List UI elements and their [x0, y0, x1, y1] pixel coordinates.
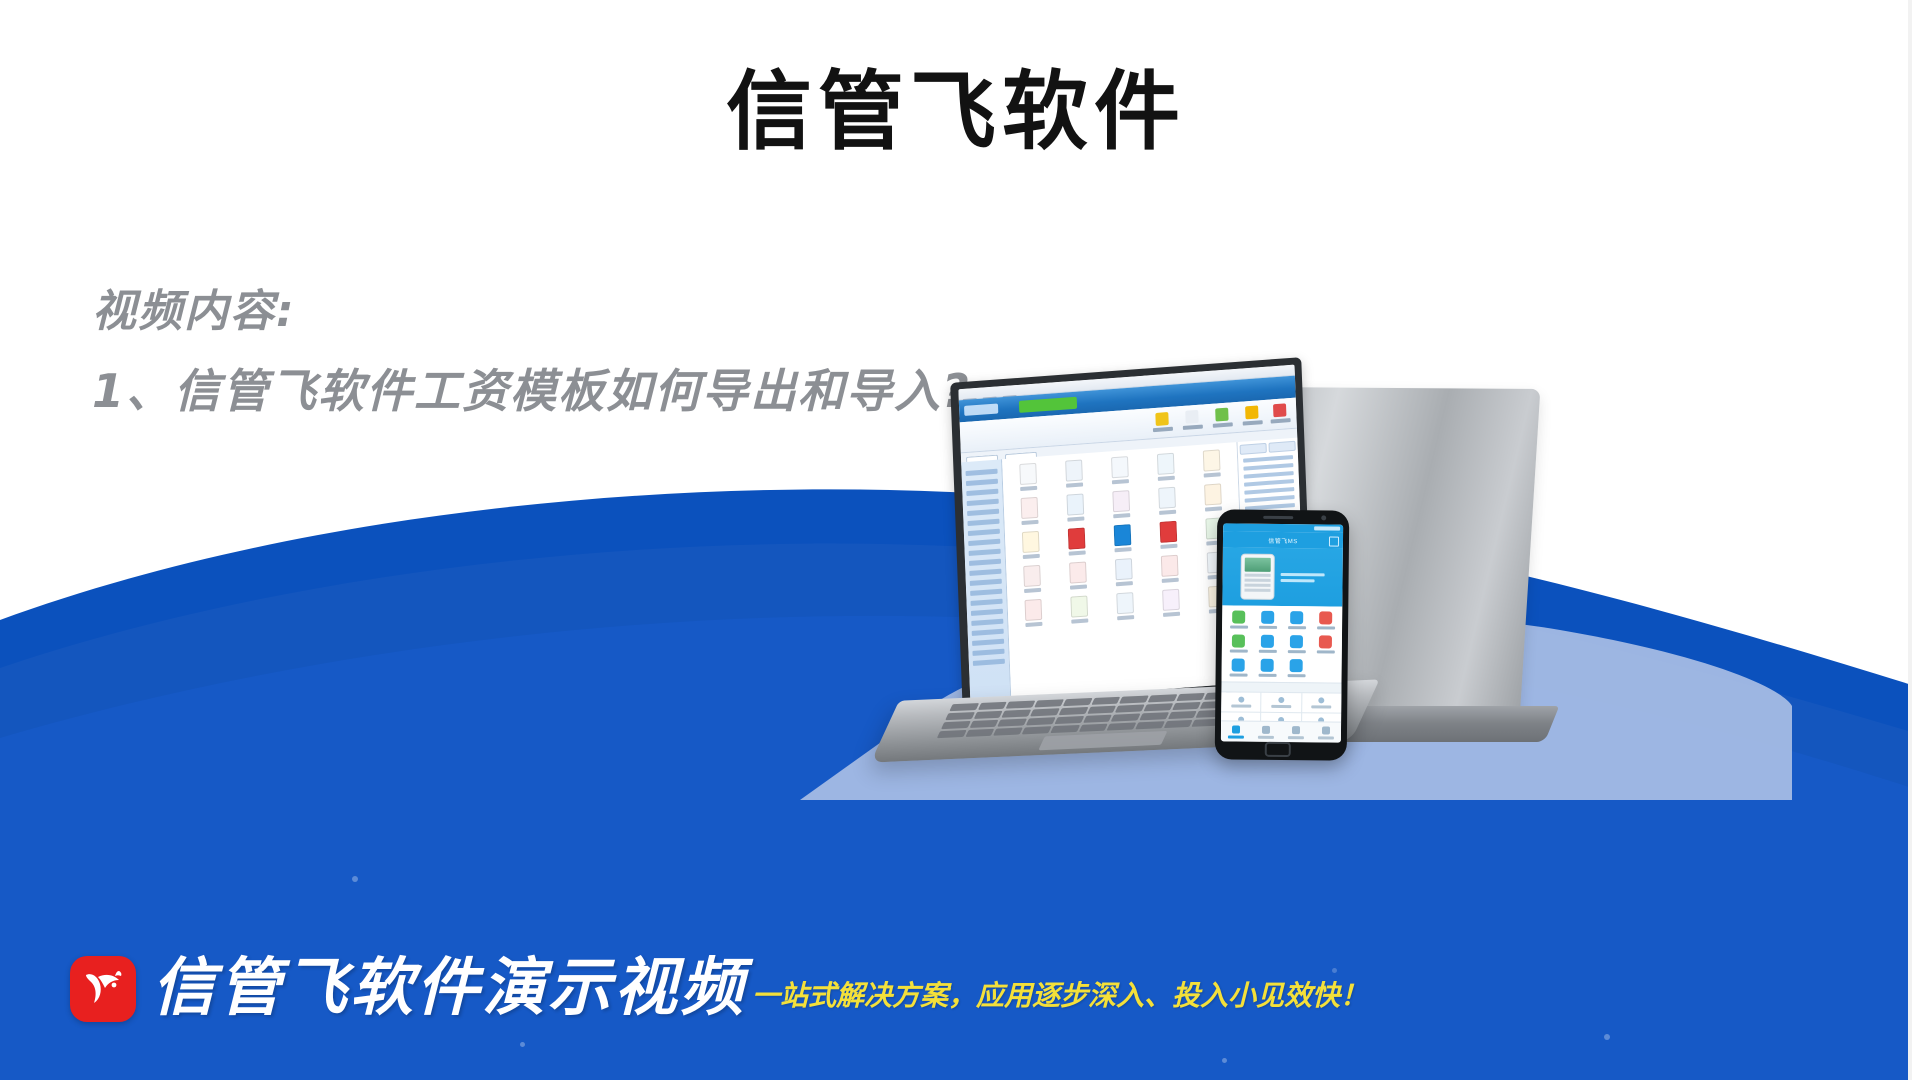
app-grid-item [1006, 462, 1050, 492]
phone-nav-home [1221, 721, 1251, 741]
phone-camera-icon [1321, 515, 1326, 520]
app-icon-grid [1006, 448, 1239, 628]
phone-shortcut [1312, 659, 1339, 677]
phone-stat-cell [1262, 693, 1302, 712]
phone-shortcut [1254, 635, 1281, 653]
phone-stat-cell [1221, 692, 1261, 711]
decor-dot [352, 876, 358, 882]
app-grid-item [1145, 486, 1189, 516]
toolbar-icon [1245, 405, 1258, 419]
phone-device: 信管飞MS [1215, 509, 1350, 760]
app-grid-item [1144, 452, 1188, 482]
app-grid-item [1101, 523, 1145, 553]
toolbar-label [1213, 422, 1233, 427]
phone-stat-cell [1302, 693, 1342, 712]
toolbar-label [1243, 420, 1263, 425]
phone-app-header: 信管飞MS [1223, 531, 1343, 548]
toolbar-icon [1155, 412, 1168, 426]
phone-shortcut [1254, 659, 1281, 677]
phone-shortcut [1225, 658, 1252, 676]
phone-shortcut [1283, 635, 1310, 653]
app-grid-item [1190, 448, 1234, 478]
phone-nav-profile [1311, 722, 1341, 742]
app-grid-item [1148, 554, 1192, 584]
app-grid-item [1149, 588, 1193, 618]
app-grid-item [1053, 492, 1097, 522]
app-right-tabs [1240, 441, 1296, 455]
app-grid-item [1012, 598, 1056, 628]
brand-name: 信管飞软件演示视频 [152, 937, 746, 1028]
toolbar-label [1153, 427, 1173, 432]
app-grid-item [1099, 489, 1143, 519]
phone-home-button [1265, 742, 1291, 757]
app-grid-item [1010, 564, 1054, 594]
phone-shortcut [1312, 635, 1339, 653]
toolbar-icon [1185, 410, 1198, 424]
flying-bird-logo-icon [70, 956, 136, 1022]
app-grid-item [1191, 482, 1235, 512]
app-grid-item [1147, 520, 1191, 550]
toolbar-label [1183, 425, 1203, 430]
phone-shortcut [1254, 611, 1281, 629]
app-grid-item [1052, 459, 1096, 489]
phone-menu-icon [1329, 536, 1339, 546]
video-content-label: 视频内容: [92, 290, 1192, 334]
laptop-trackpad [1038, 731, 1167, 750]
devices-illustration: 信管飞MS [860, 370, 1912, 850]
app-green-button [1019, 397, 1077, 413]
phone-bottom-nav [1221, 720, 1341, 742]
app-grid-item [1055, 526, 1099, 556]
phone-shortcut [1283, 611, 1310, 629]
phone-shortcut [1312, 611, 1339, 629]
phone-speaker [1263, 516, 1293, 519]
app-grid-item [1056, 560, 1100, 590]
brand-bar: 信管飞软件演示视频 一站式解决方案，应用逐步深入、投入小见效快！ [0, 920, 1912, 1080]
brand-tagline: 一站式解决方案，应用逐步深入、投入小见效快！ [752, 974, 1368, 1014]
phone-nav-analytics [1281, 722, 1311, 742]
app-logo-icon [964, 403, 998, 415]
slide-canvas: 信管飞软件 视频内容: 1、信管飞软件工资模板如何导出和导入? [0, 0, 1912, 1080]
app-grid-item [1008, 496, 1052, 526]
phone-screen: 信管飞MS [1221, 523, 1343, 742]
phone-nav-documents [1251, 722, 1281, 742]
toolbar-label [1271, 418, 1291, 423]
phone-app-title: 信管飞MS [1268, 535, 1298, 544]
app-grid-item [1103, 591, 1147, 621]
app-grid-item [1102, 557, 1146, 587]
app-grid-item [1009, 530, 1053, 560]
slide-edge [1908, 0, 1912, 1080]
phone-shortcut [1225, 610, 1252, 628]
phone-shortcut-grid [1222, 605, 1343, 682]
app-icon-grid-panel [1002, 442, 1246, 700]
toolbar-icon [1273, 403, 1286, 417]
page-title: 信管飞软件 [0, 66, 1912, 159]
app-grid-item [1098, 455, 1142, 485]
phone-banner-image [1240, 554, 1274, 600]
phone-shortcut [1225, 634, 1252, 652]
phone-banner-text [1281, 569, 1325, 584]
phone-shortcut [1283, 659, 1310, 677]
phone-banner [1222, 547, 1343, 606]
app-grid-item [1057, 594, 1101, 624]
toolbar-icon [1215, 408, 1228, 422]
